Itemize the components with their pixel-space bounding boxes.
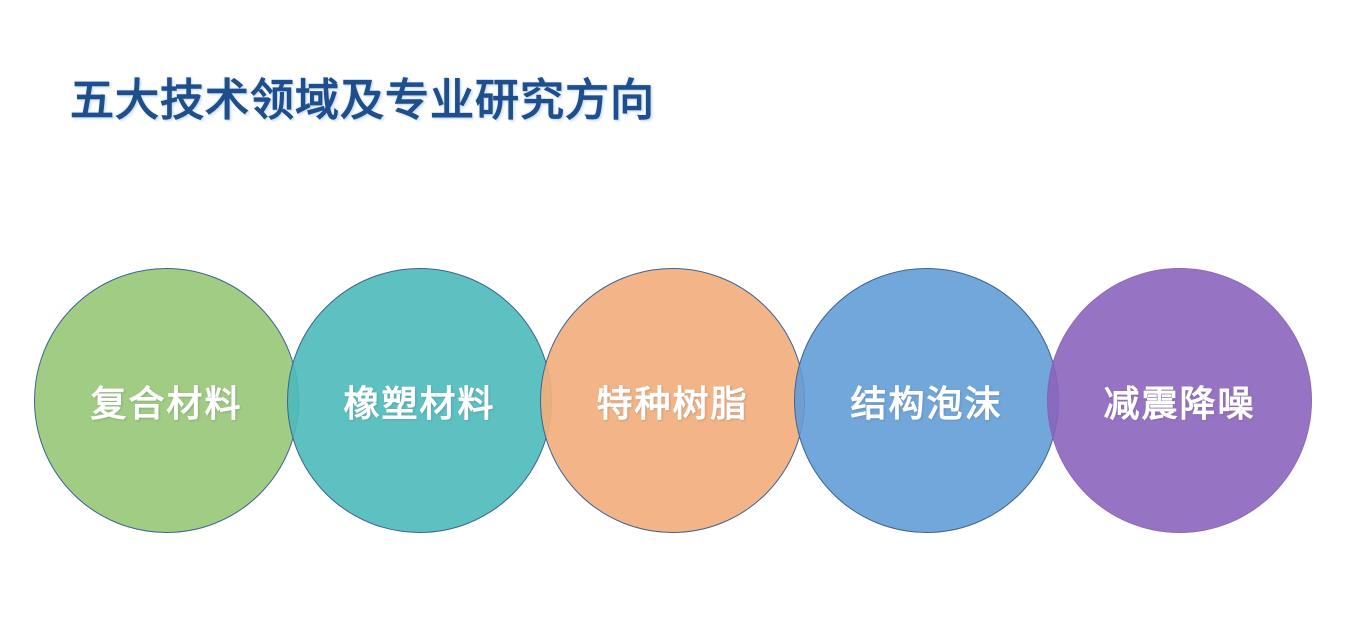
slide-canvas: 五大技术领域及专业研究方向 复合材料 橡塑材料 特种树脂 结构泡沫 减震降噪: [0, 0, 1357, 633]
venn-circle-special-resin[interactable]: [540, 268, 805, 533]
venn-circle-structural-foam[interactable]: [794, 268, 1059, 533]
venn-circle-vibration-noise-reduction[interactable]: [1047, 268, 1312, 533]
venn-circle-composite-materials[interactable]: [34, 268, 299, 533]
venn-diagram: 复合材料 橡塑材料 特种树脂 结构泡沫 减震降噪: [0, 0, 1357, 633]
venn-circle-rubber-plastic-materials[interactable]: [287, 268, 552, 533]
